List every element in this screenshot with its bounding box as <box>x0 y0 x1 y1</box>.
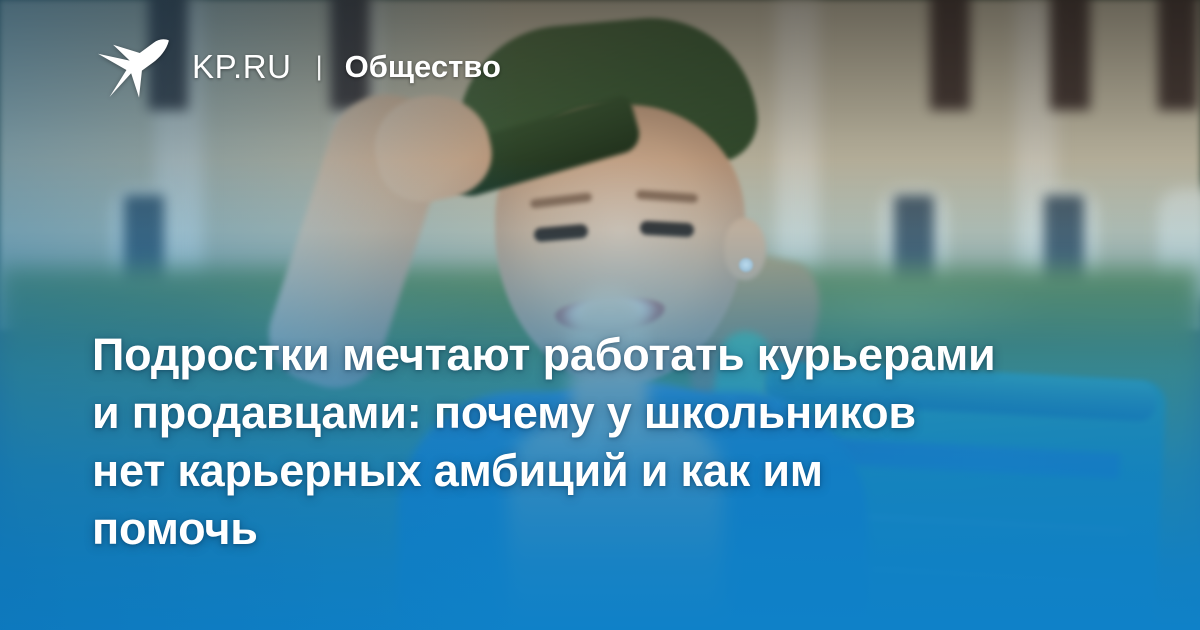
article-headline: Подростки мечтают работать курьерами и п… <box>92 326 1117 558</box>
earring <box>739 258 753 272</box>
swallow-bird-logo-icon[interactable] <box>98 34 170 98</box>
headline-line-3: нет карьерных амбиций и как им <box>92 442 1117 500</box>
social-share-card: KP.RU | Общество Подростки мечтают работ… <box>0 0 1200 630</box>
rubric-label[interactable]: Общество <box>345 51 501 82</box>
eye <box>640 221 695 238</box>
headline-line-4: помочь <box>92 500 1117 558</box>
brand-name[interactable]: KP.RU <box>192 50 292 83</box>
headline-line-2: и продавцами: почему у школьников <box>92 384 1117 442</box>
header-separator: | <box>316 53 323 80</box>
brand-header: KP.RU | Общество <box>98 34 501 98</box>
headline-line-1: Подростки мечтают работать курьерами <box>92 326 1117 384</box>
